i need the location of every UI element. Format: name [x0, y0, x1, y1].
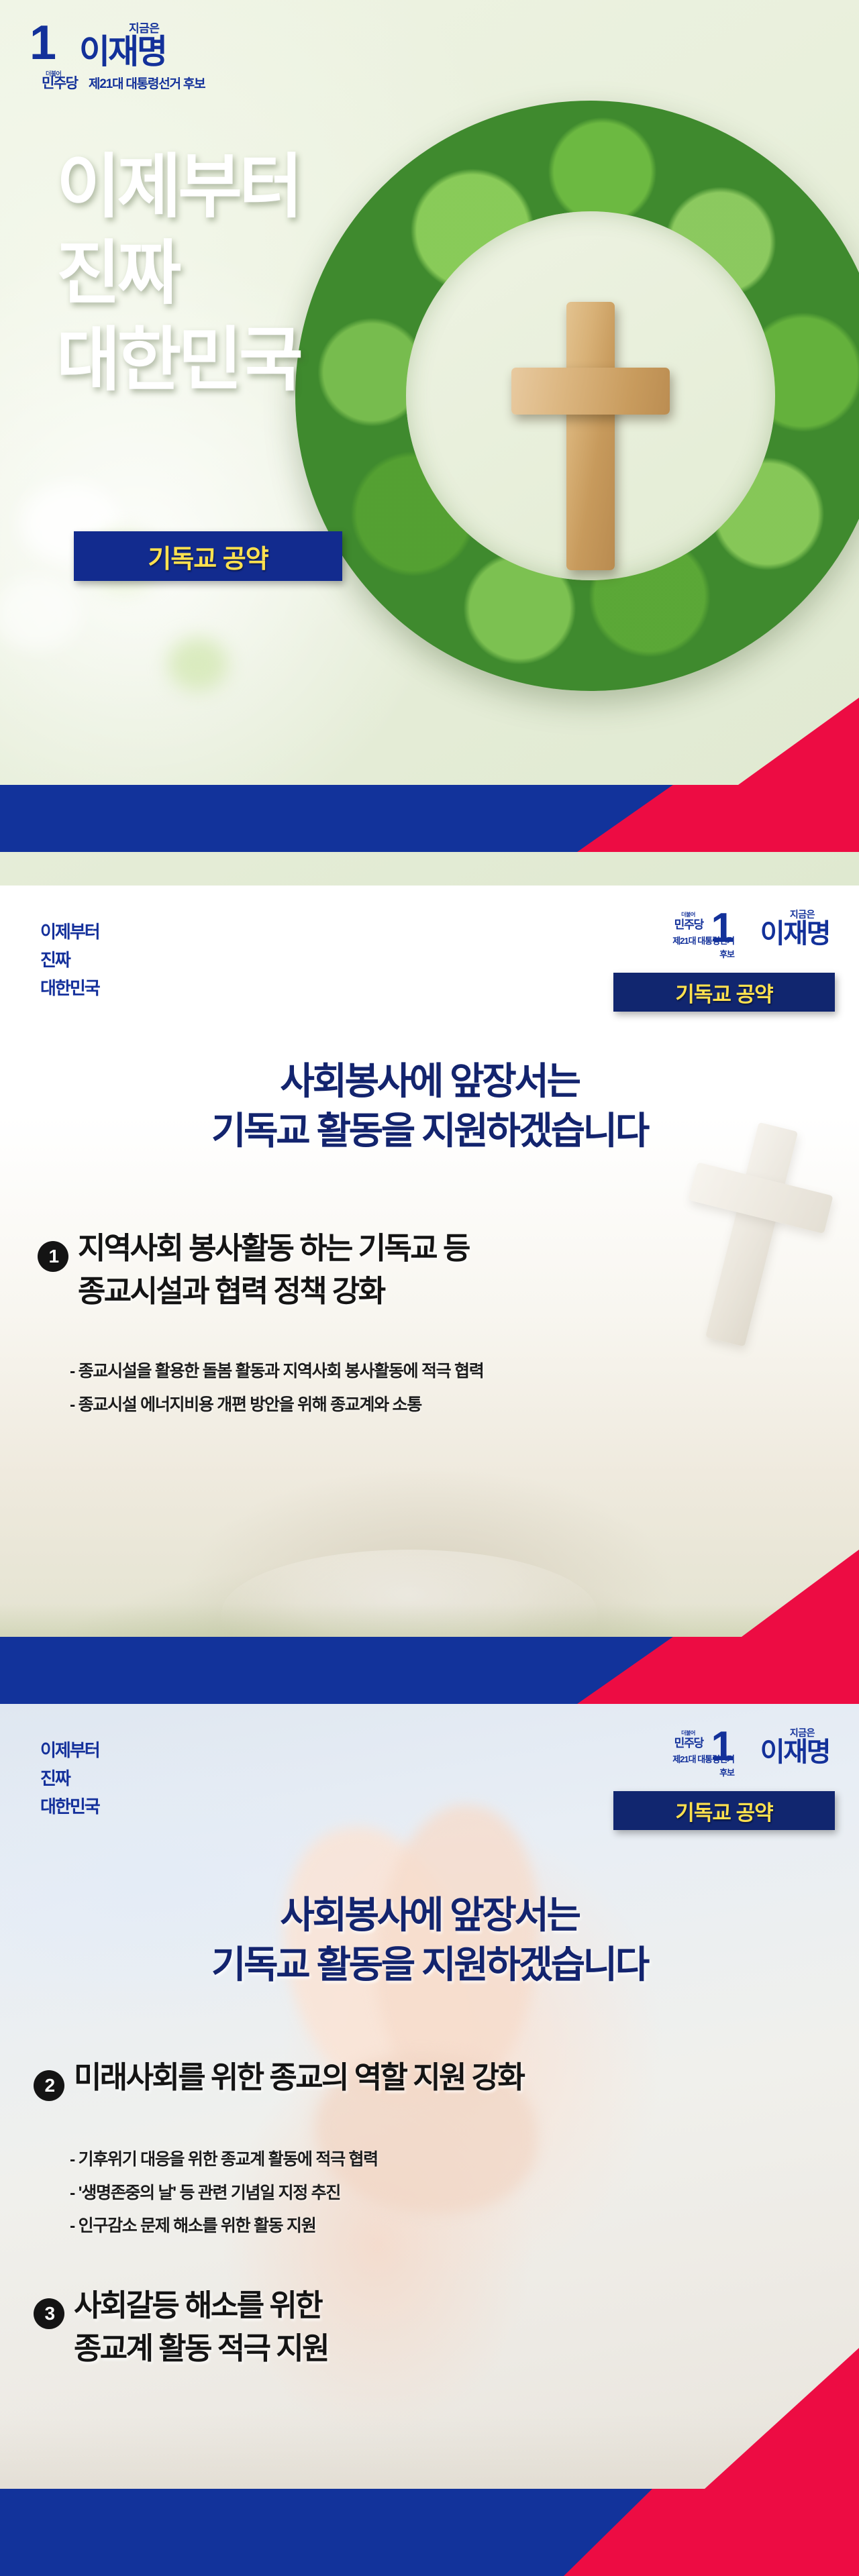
election-subtitle-line-1: 제21대 대통령선거	[600, 1755, 734, 1764]
candidate-name: 이재명	[79, 35, 166, 68]
section-headline-line-1: 사회봉사에 앞장서는	[0, 1890, 859, 1940]
bullet-item: - 기후위기 대응을 위한 종교계 활동에 적극 협력	[70, 2143, 808, 2177]
pledge-item-2: 2미래사회를 위한 종교의 역할 지원 강화	[34, 2058, 832, 2101]
bullet-item: - 인구감소 문제 해소를 위한 활동 지원	[70, 2210, 808, 2243]
pledge-item-3-title: 3사회갈등 해소를 위한 종교계 활동 적극 지원	[34, 2286, 832, 2368]
election-subtitle-line-1: 제21대 대통령선거	[600, 936, 734, 945]
panel2-mini-slogan: 이제부터 진짜 대한민국	[40, 918, 99, 1002]
logo-kicker: 지금은	[790, 910, 815, 919]
panel3-section-headline: 사회봉사에 앞장서는 기독교 활동을 지원하겠습니다	[0, 1890, 859, 1990]
pledge-item-3-title-line-1: 3사회갈등 해소를 위한	[34, 2286, 832, 2329]
section-headline-line-1: 사회봉사에 앞장서는	[0, 1057, 859, 1106]
panel3-footer-band	[0, 2489, 859, 2576]
mini-slogan-line-1: 이제부터	[40, 1736, 99, 1764]
candidate-logo-lockup: 1 지금은 이재명 더불어 민주당 제21대 대통령선거 후보	[607, 1723, 835, 1790]
candidate-name: 이재명	[760, 920, 829, 947]
party-name: 민주당	[674, 1737, 703, 1749]
panel3-topic-badge: 기독교 공약	[613, 1791, 835, 1830]
bullet-item: - 종교시설을 활용한 돌봄 활동과 지역사회 봉사활동에 적극 협력	[70, 1355, 808, 1389]
party-name: 민주당	[42, 76, 77, 91]
blossom-bokeh	[168, 637, 228, 691]
cross-horizontal-beam	[511, 368, 670, 415]
mini-slogan-line-2: 진짜	[40, 946, 99, 974]
pledge-item-1-title: 1지역사회 봉사활동 하는 기독교 등 종교시설과 협력 정책 강화	[38, 1229, 823, 1311]
hero-headline-line-2: 진짜	[56, 231, 300, 317]
ballot-number: 1	[30, 21, 56, 65]
party-name: 민주당	[674, 919, 703, 930]
hero-headline: 이제부터 진짜 대한민국	[56, 144, 300, 404]
election-subtitle-line-2: 후보	[600, 1768, 734, 1777]
candidate-name: 이재명	[760, 1739, 829, 1766]
cross-vertical-beam	[566, 302, 615, 570]
candidate-logo-lockup: 1 지금은 이재명 더불어 민주당 제21대 대통령선거 후보	[607, 904, 835, 971]
pledge-panel-1: 이제부터 진짜 대한민국 1 지금은 이재명 더불어 민주당 제21대 대통령선…	[0, 885, 859, 1704]
pledge-item-1-bullets: - 종교시설을 활용한 돌봄 활동과 지역사회 봉사활동에 적극 협력 - 종교…	[70, 1355, 808, 1421]
candidate-logo-lockup: 1 지금은 이재명 더불어 민주당 제21대 대통령선거 후보	[30, 12, 311, 93]
pledge-item-3-title-line-2: 종교계 활동 적극 지원	[34, 2329, 832, 2368]
pledge-item-1-title-line-2: 종교시설과 협력 정책 강화	[38, 1272, 823, 1311]
panel1-footer-band	[0, 785, 859, 852]
panel3-mini-slogan: 이제부터 진짜 대한민국	[40, 1736, 99, 1821]
pledge-item-1-title-line-1: 1지역사회 봉사활동 하는 기독교 등	[38, 1229, 823, 1272]
pledge-panel-2: 이제부터 진짜 대한민국 1 지금은 이재명 더불어 민주당 제21대 대통령선…	[0, 1704, 859, 2576]
hero-headline-line-1: 이제부터	[56, 144, 300, 231]
pledge-number-badge: 1	[38, 1241, 68, 1272]
mini-slogan-line-2: 진짜	[40, 1764, 99, 1792]
pledge-item-2-bullets: - 기후위기 대응을 위한 종교계 활동에 적극 협력 - '생명존중의 날' …	[70, 2143, 808, 2243]
mini-slogan-line-3: 대한민국	[40, 974, 99, 1002]
hero-topic-badge: 기독교 공약	[74, 531, 342, 581]
pledge-item-2-title-line-1: 2미래사회를 위한 종교의 역할 지원 강화	[34, 2058, 832, 2101]
party-prefix: 더불어	[681, 912, 695, 918]
hero-panel: 1 지금은 이재명 더불어 민주당 제21대 대통령선거 후보 이제부터 진짜 …	[0, 0, 859, 885]
green-wreath-photo	[295, 101, 859, 691]
bullet-item: - 종교시설 에너지비용 개편 방안을 위해 종교계와 소통	[70, 1389, 808, 1422]
mini-slogan-line-3: 대한민국	[40, 1792, 99, 1821]
section-headline-line-2: 기독교 활동을 지원하겠습니다	[0, 1940, 859, 1990]
mini-slogan-line-1: 이제부터	[40, 918, 99, 946]
election-subtitle-line-2: 후보	[600, 950, 734, 959]
pledge-item-3: 3사회갈등 해소를 위한 종교계 활동 적극 지원	[34, 2286, 832, 2368]
bullet-item: - '생명존중의 날' 등 관련 기념일 지정 추진	[70, 2177, 808, 2210]
party-prefix: 더불어	[681, 1731, 695, 1736]
pledge-item-1: 1지역사회 봉사활동 하는 기독교 등 종교시설과 협력 정책 강화	[38, 1229, 823, 1311]
panel2-topic-badge: 기독교 공약	[613, 973, 835, 1012]
election-subtitle: 제21대 대통령선거 후보	[89, 78, 205, 91]
panel2-footer-band	[0, 1637, 859, 1704]
campaign-card-news-poster: 1 지금은 이재명 더불어 민주당 제21대 대통령선거 후보 이제부터 진짜 …	[0, 0, 859, 2576]
logo-kicker: 지금은	[790, 1728, 815, 1737]
hero-headline-line-3: 대한민국	[56, 317, 300, 404]
pledge-number-badge: 3	[34, 2298, 64, 2329]
pledge-item-2-title: 2미래사회를 위한 종교의 역할 지원 강화	[34, 2058, 832, 2101]
pledge-number-badge: 2	[34, 2070, 64, 2101]
section-headline-line-2: 기독교 활동을 지원하겠습니다	[0, 1106, 859, 1156]
panel2-section-headline: 사회봉사에 앞장서는 기독교 활동을 지원하겠습니다	[0, 1057, 859, 1156]
